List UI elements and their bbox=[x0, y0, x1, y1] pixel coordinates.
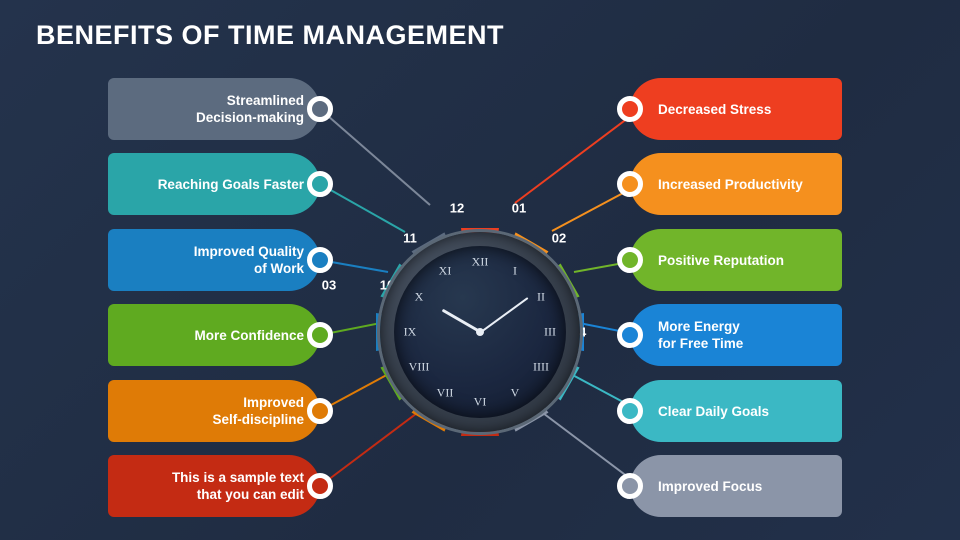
benefit-label-11: Reaching Goals Faster bbox=[108, 176, 304, 193]
petal-number-01: 01 bbox=[512, 201, 526, 216]
benefit-label-05: Clear Daily Goals bbox=[658, 403, 842, 420]
petal-number-12: 12 bbox=[450, 201, 464, 216]
benefit-item-09[interactable]: More Confidence bbox=[108, 304, 320, 366]
benefit-item-08[interactable]: Improved Self-discipline bbox=[108, 380, 320, 442]
benefit-item-01[interactable]: Decreased Stress bbox=[630, 78, 842, 140]
clock-wheel: 01 02 03 04 05 06 07 08 09 10 11 12 XII … bbox=[329, 181, 631, 483]
numeral-12: XII bbox=[472, 255, 489, 270]
benefit-item-02[interactable]: Increased Productivity bbox=[630, 153, 842, 215]
benefit-label-04: More Energy for Free Time bbox=[658, 318, 842, 352]
benefit-item-05[interactable]: Clear Daily Goals bbox=[630, 380, 842, 442]
numeral-7: VII bbox=[437, 386, 454, 401]
numeral-5: V bbox=[511, 386, 520, 401]
minute-hand bbox=[480, 297, 528, 333]
benefit-item-07[interactable]: This is a sample text that you can edit bbox=[108, 455, 320, 517]
numeral-10: X bbox=[415, 290, 424, 305]
slide-canvas: BENEFITS OF TIME MANAGEMENT Streamlined … bbox=[0, 0, 960, 540]
petal-number-03: 03 bbox=[322, 278, 336, 293]
benefit-knob-01 bbox=[617, 96, 643, 122]
benefit-label-07: This is a sample text that you can edit bbox=[108, 469, 304, 503]
benefit-item-03[interactable]: Positive Reputation bbox=[630, 229, 842, 291]
clock-hub bbox=[476, 328, 484, 336]
benefit-label-08: Improved Self-discipline bbox=[108, 394, 304, 428]
numeral-9: IX bbox=[404, 325, 417, 340]
numeral-6: VI bbox=[474, 395, 487, 410]
clock-face: XII I II III IIII V VI VII VIII IX X XI bbox=[380, 232, 580, 432]
numeral-3: III bbox=[544, 325, 556, 340]
numeral-8: VIII bbox=[409, 360, 430, 375]
numeral-11: XI bbox=[439, 264, 452, 279]
numeral-1: I bbox=[513, 264, 517, 279]
benefit-label-03: Positive Reputation bbox=[658, 252, 842, 269]
benefit-item-04[interactable]: More Energy for Free Time bbox=[630, 304, 842, 366]
benefit-item-11[interactable]: Reaching Goals Faster bbox=[108, 153, 320, 215]
benefit-label-12: Streamlined Decision-making bbox=[108, 92, 304, 126]
numeral-2: II bbox=[537, 290, 545, 305]
benefit-label-10: Improved Quality of Work bbox=[108, 243, 304, 277]
benefit-knob-12 bbox=[307, 96, 333, 122]
benefit-label-01: Decreased Stress bbox=[658, 101, 842, 118]
benefit-label-06: Improved Focus bbox=[658, 478, 842, 495]
benefit-label-09: More Confidence bbox=[108, 327, 304, 344]
benefit-label-02: Increased Productivity bbox=[658, 176, 842, 193]
clock-dial: XII I II III IIII V VI VII VIII IX X XI bbox=[394, 246, 566, 418]
benefit-item-06[interactable]: Improved Focus bbox=[630, 455, 842, 517]
petal-number-02: 02 bbox=[552, 231, 566, 246]
petal-number-11: 11 bbox=[403, 231, 417, 246]
benefit-item-10[interactable]: Improved Quality of Work bbox=[108, 229, 320, 291]
numeral-4: IIII bbox=[533, 360, 549, 375]
benefit-item-12[interactable]: Streamlined Decision-making bbox=[108, 78, 320, 140]
